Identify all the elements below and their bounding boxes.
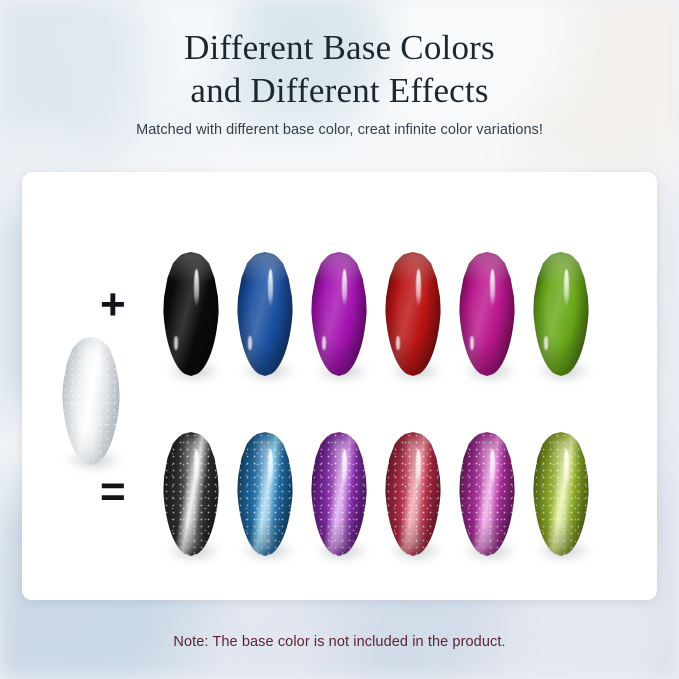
nail-swatch-fuchsia[interactable] — [459, 252, 515, 376]
nail-edge-shade — [163, 432, 219, 556]
nail-edge-shade — [459, 432, 515, 556]
nail-edge-shade — [237, 432, 293, 556]
nail-highlight-secondary — [322, 336, 325, 350]
nail-edge-shade — [533, 432, 589, 556]
nail-edge-shade — [311, 432, 367, 556]
nail-edge-shade — [62, 337, 120, 465]
nail-edge-shade — [237, 252, 293, 376]
plus-operator: + — [100, 283, 126, 327]
page-title-line-2: and Different Effects — [0, 69, 679, 112]
nail-swatch-cat-eye-green[interactable] — [533, 432, 589, 556]
nail-swatch-cat-eye-red[interactable] — [385, 432, 441, 556]
nail-edge-shade — [385, 252, 441, 376]
nail-edge-shade — [385, 432, 441, 556]
nail-edge-shade — [459, 252, 515, 376]
nail-swatch-purple[interactable] — [311, 252, 367, 376]
nail-edge-shade — [163, 252, 219, 376]
nail-highlight-secondary — [248, 336, 251, 350]
nail-swatch-cat-eye-magenta[interactable] — [459, 432, 515, 556]
nail-swatch-black[interactable] — [163, 252, 219, 376]
nail-highlight-secondary — [544, 336, 547, 350]
nail-highlight-secondary — [470, 336, 473, 350]
nail-swatch-silver-black[interactable] — [163, 432, 219, 556]
page-subtitle: Matched with different base color, creat… — [0, 122, 679, 138]
nail-swatch-cat-eye-purple[interactable] — [311, 432, 367, 556]
nail-swatch-green[interactable] — [533, 252, 589, 376]
nail-edge-shade — [311, 252, 367, 376]
nail-swatch-cat-eye-blue[interactable] — [237, 432, 293, 556]
nail-highlight-secondary — [174, 336, 177, 350]
page-title: Different Base Colors and Different Effe… — [0, 26, 679, 112]
nail-edge-shade — [533, 252, 589, 376]
header: Different Base Colors and Different Effe… — [0, 26, 679, 138]
product-note: Note: The base color is not included in … — [0, 634, 679, 650]
nail-swatch-silver-base[interactable] — [62, 337, 120, 465]
nail-highlight-secondary — [396, 336, 399, 350]
page-title-line-1: Different Base Colors — [0, 26, 679, 69]
nail-swatch-blue[interactable] — [237, 252, 293, 376]
equals-operator: = — [100, 470, 126, 514]
nail-swatch-red[interactable] — [385, 252, 441, 376]
